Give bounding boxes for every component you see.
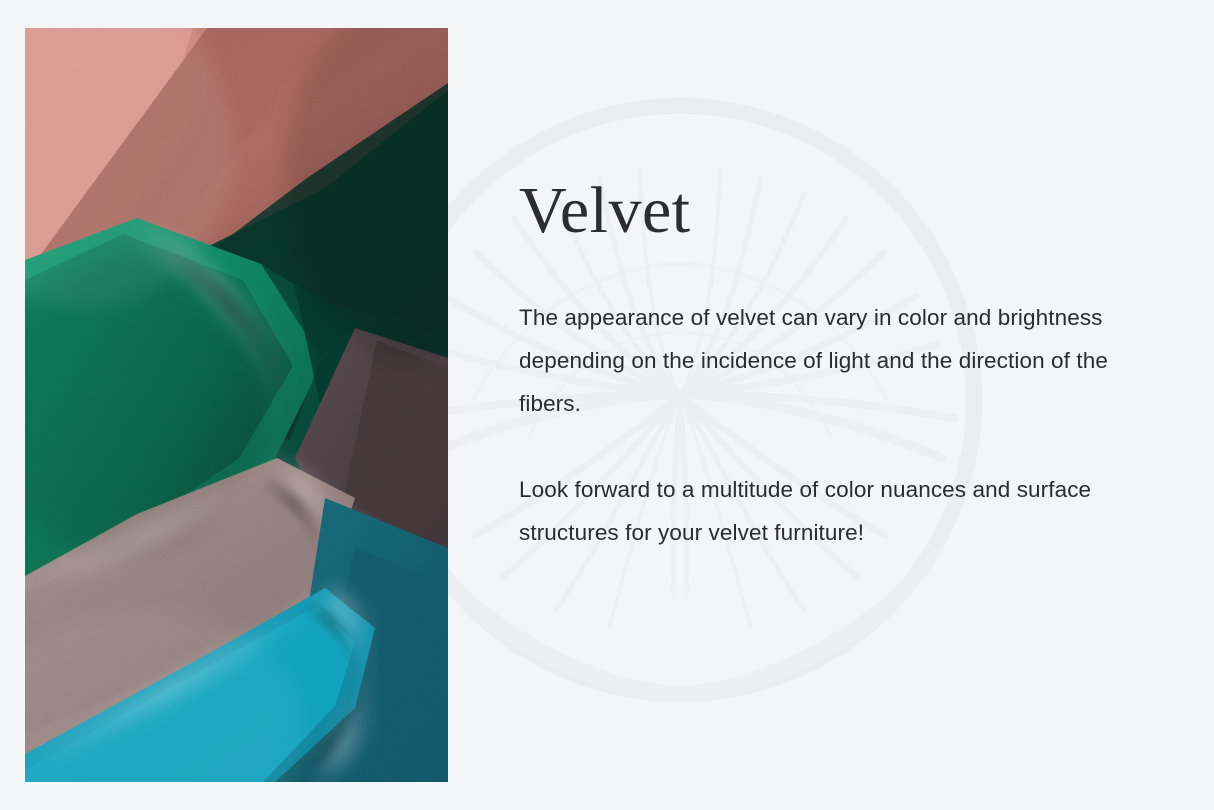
velvet-fabric-photo (25, 28, 448, 782)
velvet-promo-page: Velvet The appearance of velvet can vary… (0, 0, 1214, 810)
content-column: Velvet The appearance of velvet can vary… (519, 0, 1129, 810)
body-copy: The appearance of velvet can vary in col… (519, 296, 1123, 554)
page-title: Velvet (519, 178, 691, 244)
description-paragraph-1: The appearance of velvet can vary in col… (519, 296, 1123, 425)
description-paragraph-2: Look forward to a multitude of color nua… (519, 468, 1123, 554)
